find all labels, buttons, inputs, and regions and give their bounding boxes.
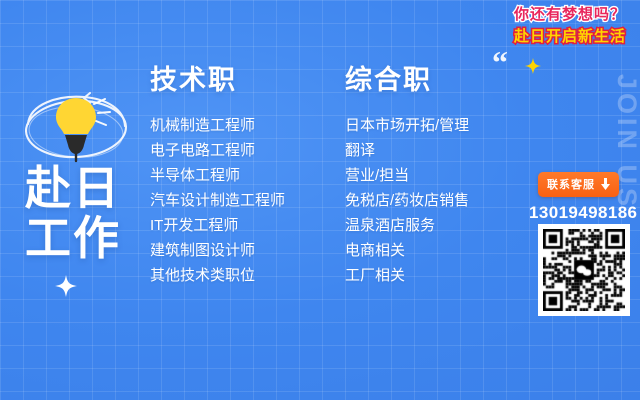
column-general-heading: 综合职 — [345, 64, 469, 96]
slogan-line-1: 你还有梦想吗？ — [514, 4, 626, 25]
list-item: 汽车设计制造工程师 — [150, 188, 285, 213]
column-general: 综合职 日本市场开拓/管理 翻译 营业/担当 免税店/药妆店销售 温泉酒店服务 … — [345, 64, 469, 288]
phone-number[interactable]: 13019498186 — [529, 203, 637, 223]
column-technical-list: 机械制造工程师 电子电路工程师 半导体工程师 汽车设计制造工程师 IT开发工程师… — [150, 113, 285, 288]
list-item: 日本市场开拓/管理 — [345, 113, 469, 138]
wechat-qr-code[interactable] — [538, 224, 630, 316]
list-item: 营业/担当 — [345, 163, 469, 188]
slogan-line-2: 赴日开启新生活 — [514, 26, 626, 47]
contact-support-label: 联系客服 — [547, 176, 595, 192]
poster-canvas: JOIN US 你还有梦想吗？ 赴日开启新生活 “ — [0, 0, 640, 400]
four-point-star-yellow-icon — [525, 58, 541, 74]
list-item: 翻译 — [345, 138, 469, 163]
lightbulb-icon — [14, 82, 138, 168]
list-item: 其他技术类职位 — [150, 263, 285, 288]
contact-support-button[interactable]: 联系客服 — [538, 172, 619, 197]
list-item: 机械制造工程师 — [150, 113, 285, 138]
four-point-star-white-icon — [55, 275, 77, 297]
list-item: 电商相关 — [345, 238, 469, 263]
quote-mark-icon: “ — [492, 52, 508, 72]
page-title-line-2: 工作 — [25, 213, 121, 263]
list-item: 工厂相关 — [345, 263, 469, 288]
list-item: 免税店/药妆店销售 — [345, 188, 469, 213]
list-item: 半导体工程师 — [150, 163, 285, 188]
list-item: 建筑制图设计师 — [150, 238, 285, 263]
column-general-list: 日本市场开拓/管理 翻译 营业/担当 免税店/药妆店销售 温泉酒店服务 电商相关… — [345, 113, 469, 288]
list-item: 电子电路工程师 — [150, 138, 285, 163]
column-technical: 技术职 机械制造工程师 电子电路工程师 半导体工程师 汽车设计制造工程师 IT开… — [150, 64, 285, 288]
slogan-block: 你还有梦想吗？ 赴日开启新生活 — [514, 4, 626, 47]
list-item: IT开发工程师 — [150, 213, 285, 238]
arrow-down-icon — [600, 178, 611, 190]
page-title: 赴日 工作 — [25, 163, 121, 263]
column-technical-heading: 技术职 — [150, 64, 285, 96]
list-item: 温泉酒店服务 — [345, 213, 469, 238]
page-title-line-1: 赴日 — [25, 163, 121, 213]
